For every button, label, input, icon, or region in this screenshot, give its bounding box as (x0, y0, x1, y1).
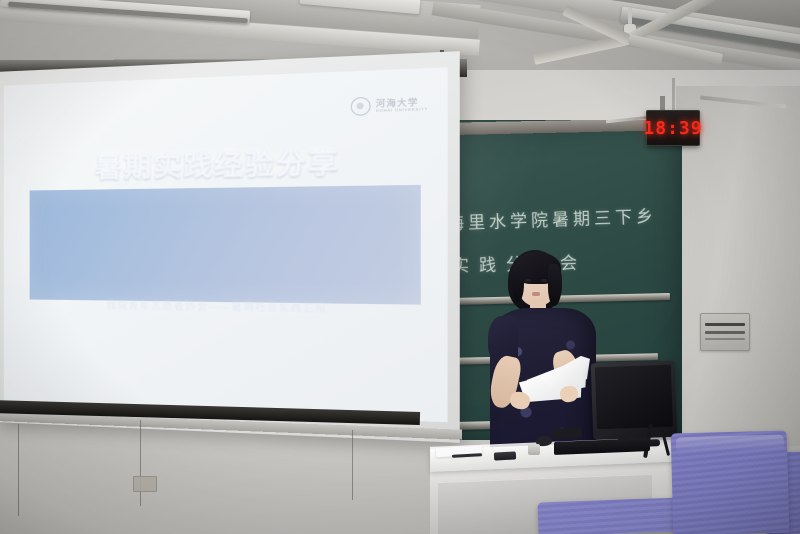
monitor-screen (595, 365, 673, 430)
digital-clock: 18:39 (646, 110, 700, 146)
desk-cup (528, 444, 540, 455)
hanging-cord (352, 430, 353, 500)
hair-side (548, 264, 562, 306)
eye (541, 279, 547, 282)
eye (525, 279, 531, 282)
university-seal-icon: 河海大学 HOHAI UNIVERSITY (351, 95, 428, 116)
clock-time: 18:39 (643, 118, 702, 139)
auditorium-chair (537, 498, 680, 534)
hanging-cord (140, 420, 141, 506)
presentation-slide: 河海大学 HOHAI UNIVERSITY 暑期实践经验分享 我院青年志愿者协会… (4, 67, 448, 422)
logo-label: 河海大学 HOHAI UNIVERSITY (376, 97, 428, 113)
hair-side (512, 266, 524, 302)
projection-screen: 河海大学 HOHAI UNIVERSITY 暑期实践经验分享 我院青年志愿者协会… (0, 51, 460, 443)
seal-mark-icon (351, 97, 371, 116)
vent-slot (705, 338, 745, 340)
desktop-lcd-monitor[interactable] (591, 361, 678, 440)
logo-subname: HOHAI UNIVERSITY (376, 107, 428, 113)
slide-title-band (30, 185, 421, 305)
slide-title: 暑期实践经验分享 (4, 138, 448, 186)
desk-object (552, 427, 583, 439)
mouth (532, 292, 540, 296)
hanging-cord (18, 424, 19, 516)
wall-vent-panel (700, 313, 750, 351)
classroom-photo: 河海里水学院暑期三下乡 实践分享会 18:39 河海大学 HOHAI UNIVE… (0, 0, 800, 534)
vent-slot (705, 323, 745, 326)
wall-plate (133, 476, 157, 492)
desk-object (494, 451, 516, 460)
chair-highlight (676, 435, 784, 454)
speech-papers (520, 362, 592, 406)
vent-slot (705, 331, 745, 334)
